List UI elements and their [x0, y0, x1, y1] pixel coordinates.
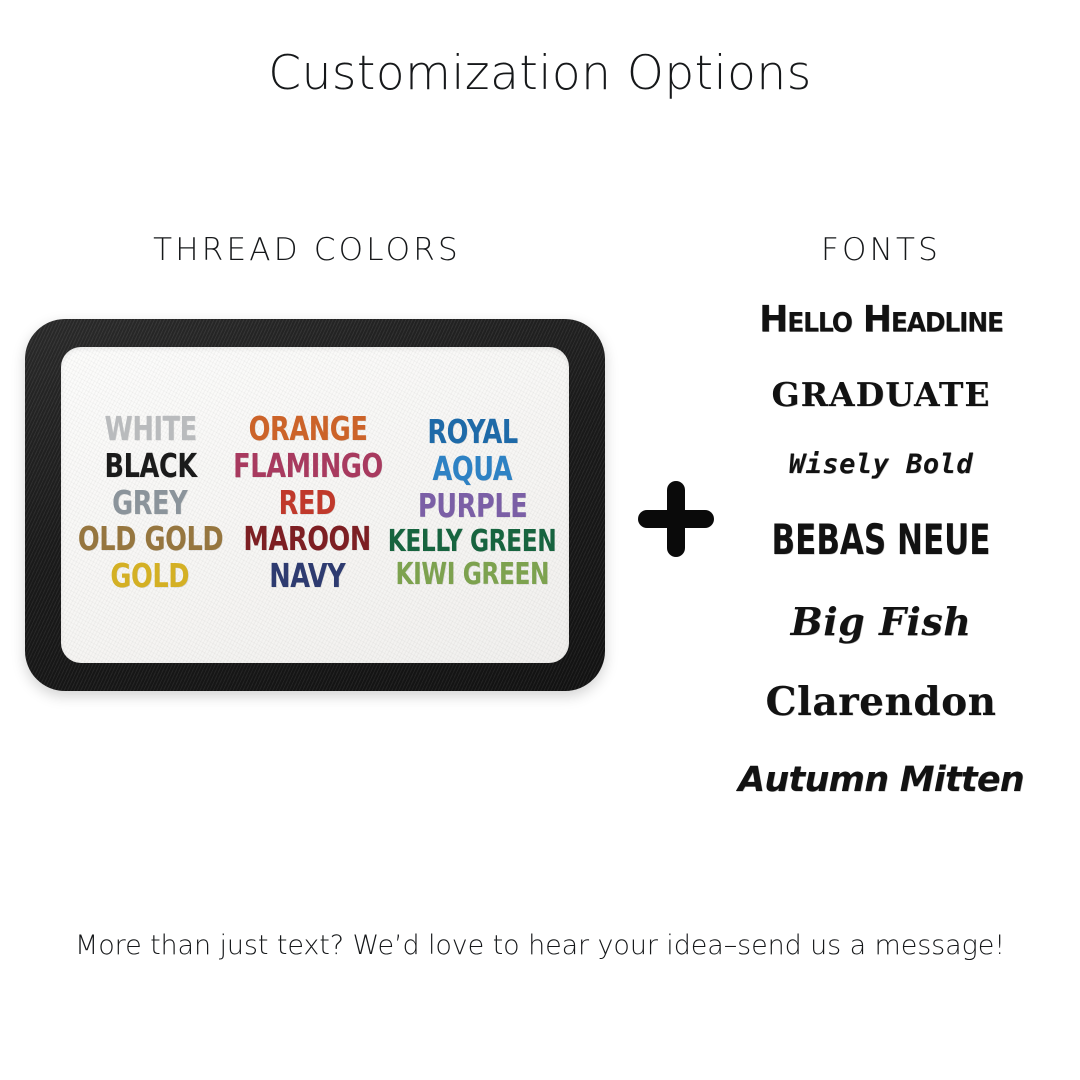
thread-color-swatch: BLACK — [104, 448, 196, 485]
footer-note: More than just text? We’d love to hear y… — [0, 930, 1080, 961]
thread-color-column-3: ROYALAQUAPURPLEKELLY GREENKIWI GREEN — [384, 414, 561, 592]
font-samples-list: Hello HeadlineGRADUATEWisely BoldBEBAS N… — [700, 300, 1062, 800]
thread-color-column-1: WHITEBLACKGREYOLD GOLDGOLD — [69, 411, 231, 596]
thread-color-swatch: ORANGE — [248, 411, 367, 448]
thread-color-swatch: GREY — [113, 485, 188, 522]
thread-color-swatch: PURPLE — [418, 488, 527, 525]
thread-color-swatch: NAVY — [270, 558, 346, 595]
thread-color-swatch: ROYAL — [427, 414, 517, 451]
page-title: Customization Options — [0, 46, 1080, 101]
patch-inner-face: WHITEBLACKGREYOLD GOLDGOLD ORANGEFLAMING… — [61, 347, 569, 663]
thread-color-swatch: GOLD — [111, 558, 190, 595]
thread-color-swatch: WHITE — [104, 411, 196, 448]
thread-color-swatch: KIWI GREEN — [396, 558, 550, 592]
plus-icon-vertical-bar — [667, 481, 685, 557]
fonts-heading: FONTS — [700, 232, 1062, 268]
font-sample-clarendon: Clarendon — [700, 679, 1062, 725]
thread-color-column-2: ORANGEFLAMINGOREDMAROONNAVY — [231, 411, 384, 596]
font-sample-wisely-bold: Wisely Bold — [700, 449, 1062, 480]
font-sample-hello-headline: Hello Headline — [700, 299, 1062, 341]
thread-color-swatch: AQUA — [433, 451, 513, 488]
thread-color-swatch: OLD GOLD — [77, 521, 222, 558]
thread-colors-heading: THREAD COLORS — [0, 232, 614, 268]
font-sample-autumn-mitten: Autumn Mitten — [700, 760, 1062, 800]
thread-color-swatch: MAROON — [244, 521, 372, 558]
thread-color-columns: WHITEBLACKGREYOLD GOLDGOLD ORANGEFLAMING… — [61, 347, 569, 663]
thread-color-swatch: RED — [279, 485, 336, 522]
font-sample-bebas-neue: BEBAS NEUE — [733, 515, 1030, 564]
font-sample-big-fish: Big Fish — [700, 599, 1062, 644]
thread-colors-patch: WHITEBLACKGREYOLD GOLDGOLD ORANGEFLAMING… — [25, 319, 605, 691]
thread-color-swatch: FLAMINGO — [233, 448, 383, 485]
thread-color-swatch: KELLY GREEN — [388, 525, 557, 559]
font-sample-graduate: GRADUATE — [700, 375, 1062, 414]
